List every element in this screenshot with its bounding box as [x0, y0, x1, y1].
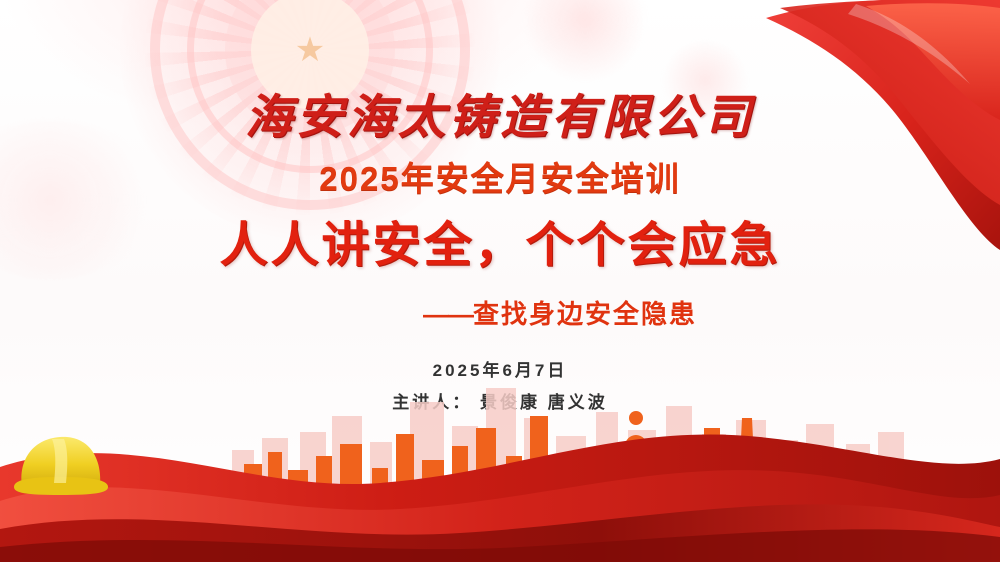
- tagline-text: 查找身边安全隐患: [473, 299, 697, 329]
- pink-blob-one: [520, 0, 650, 80]
- training-subtitle: 2025年安全月安全培训: [0, 152, 1000, 200]
- star-icon: ★: [295, 33, 325, 67]
- red-wave-decoration: [0, 397, 1000, 562]
- presentation-slide: ★ 海安海太铸造有限公司 2025年安全月安全培训: [0, 0, 1000, 562]
- skyline-front-layer: [244, 411, 928, 502]
- safety-helmet-icon: [8, 425, 116, 507]
- company-name: 海安海太铸造有限公司: [0, 78, 1000, 147]
- presentation-date: 2025年6月7日: [0, 356, 1000, 381]
- main-slogan: 人人讲安全，个个会应急: [0, 205, 1000, 275]
- presenter-names: 主讲人： 景俊康 唐义波: [0, 388, 1000, 413]
- tagline-dash: ——: [423, 299, 473, 329]
- tagline: ——查找身边安全隐患: [0, 294, 1000, 331]
